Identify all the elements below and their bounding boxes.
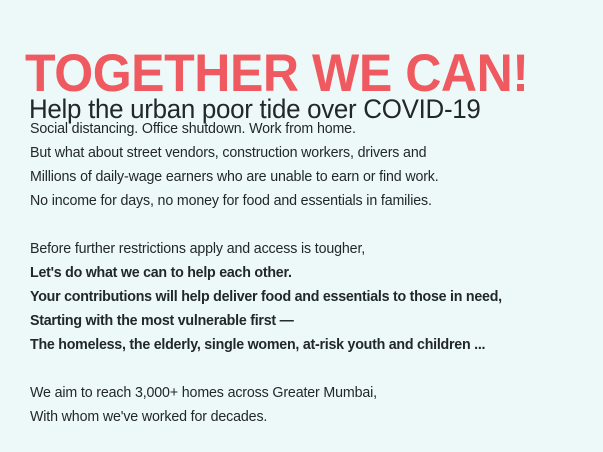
body-line: With whom we've worked for decades. (30, 405, 582, 429)
body-line-emphasis: Your contributions will help deliver foo… (30, 285, 582, 309)
body-line: We aim to reach 3,000+ homes across Grea… (30, 381, 582, 405)
paragraph: Social distancing. Office shutdown. Work… (30, 117, 596, 213)
body-line: No income for days, no money for food an… (30, 189, 582, 213)
paragraph: We aim to reach 3,000+ homes across Grea… (30, 381, 596, 429)
campaign-poster: TOGETHER WE CAN! Help the urban poor tid… (0, 0, 603, 452)
body-line-emphasis: Starting with the most vulnerable first … (30, 309, 582, 333)
body-line: Social distancing. Office shutdown. Work… (30, 117, 582, 141)
body-line: Millions of daily-wage earners who are u… (30, 165, 582, 189)
paragraph: Before further restrictions apply and ac… (30, 237, 596, 357)
body-line: Before further restrictions apply and ac… (30, 237, 582, 261)
body-line-emphasis: Let's do what we can to help each other. (30, 261, 582, 285)
body-line-emphasis: The homeless, the elderly, single women,… (30, 333, 582, 357)
body-line: But what about street vendors, construct… (30, 141, 582, 165)
body-copy: Social distancing. Office shutdown. Work… (30, 117, 596, 429)
